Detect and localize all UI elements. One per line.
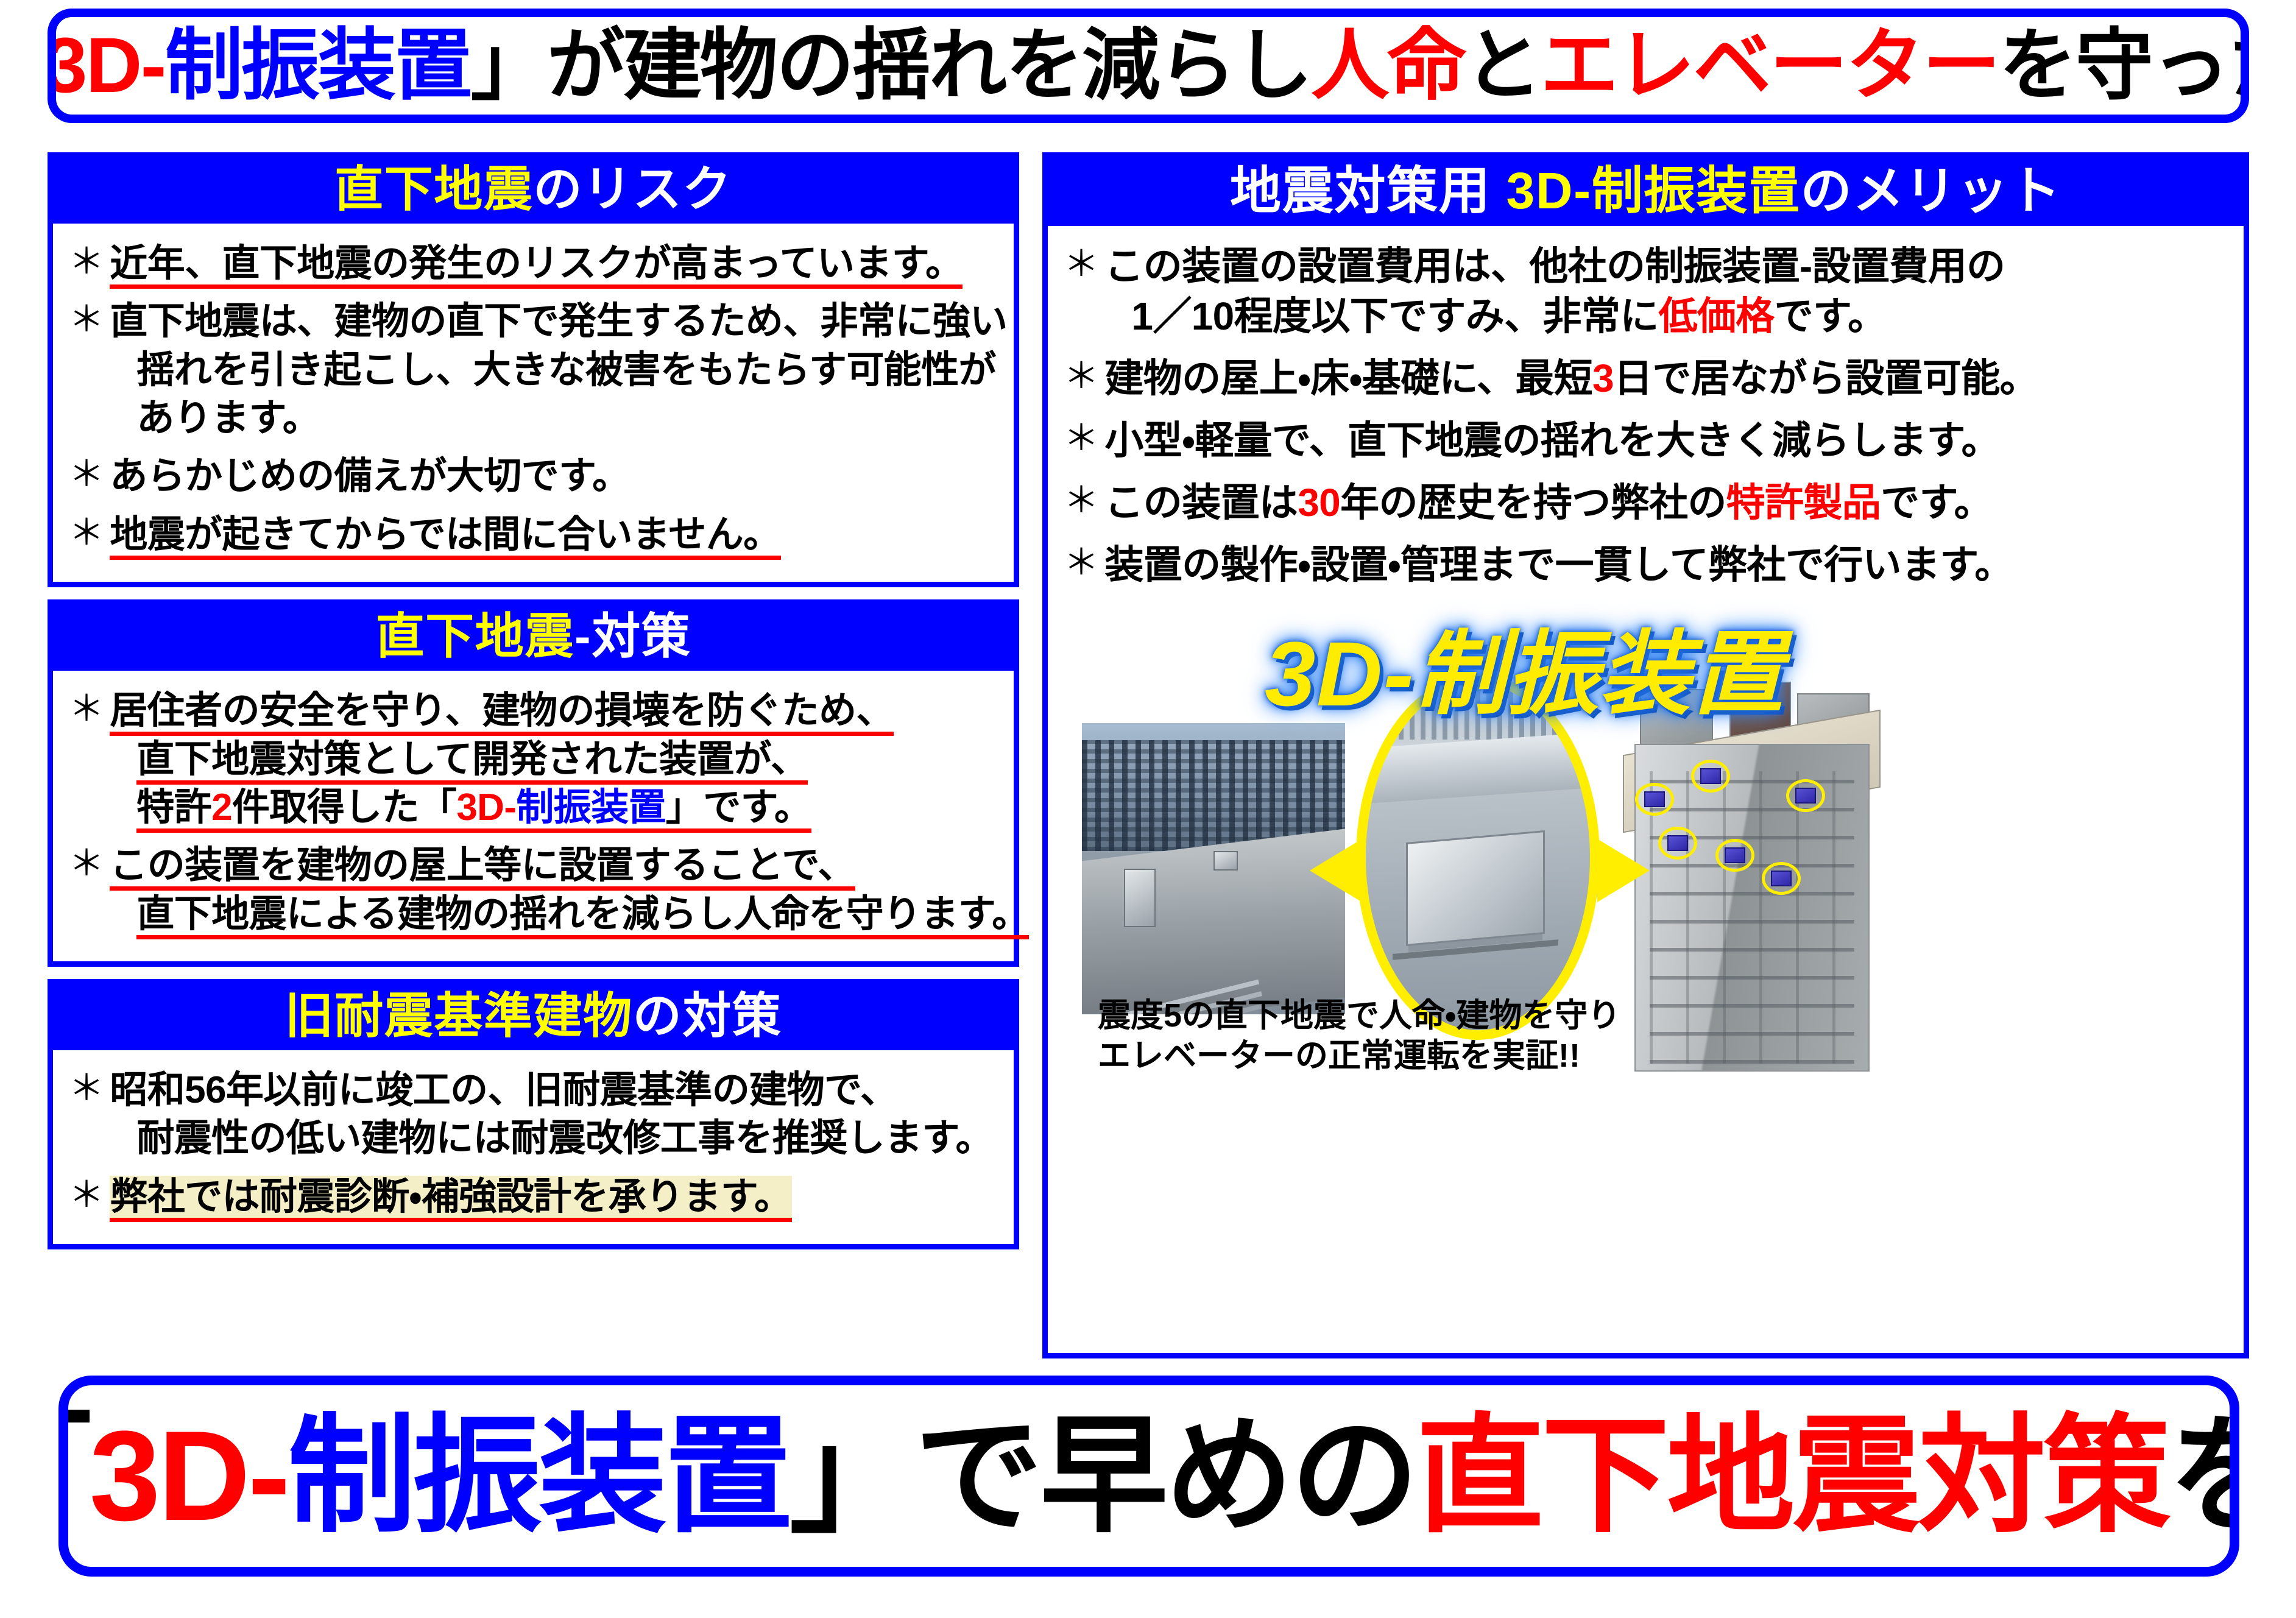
caption-line-0: 震度5の直下地震で人命・建物を守り	[1098, 996, 1620, 1036]
left-column: 直下地震のリスク＊近年、直下地震の発生のリスクが高まっています。＊直下地震は、建…	[48, 152, 1019, 1358]
panel-0-bullet: ＊あらかじめの備えが大切です。	[69, 452, 1003, 500]
bullet-marker-icon: ＊	[69, 1173, 104, 1218]
emph-patent: 特許製品	[1726, 481, 1881, 525]
arrow-left-icon	[1310, 839, 1362, 902]
panel-1-line-text: 直下地震による建物の揺れを減らし人命を守ります。	[136, 893, 1029, 939]
merits-bullet-lines: この装置の設置費用は、他社の制振装置-設置費用の1／10程度以下ですみ、非常に低…	[1104, 242, 2233, 342]
panel-merits-body: ＊この装置の設置費用は、他社の制振装置-設置費用の1／10程度以下ですみ、非常に…	[1048, 226, 2244, 1353]
panel-2-bullet: ＊昭和56年以前に竣工の、旧耐震基準の建物で、耐震性の低い建物には耐震改修工事を…	[69, 1066, 1003, 1163]
merits-line-text: この装置は30年の歴史を持つ弊社の特許製品です。	[1104, 481, 1992, 525]
panel-1-line-text: 直下地震対策として開発された装置が、	[136, 738, 808, 785]
header-text-seg-5: と	[1464, 22, 1540, 109]
roof-parapet	[1356, 729, 1600, 805]
panel-2-body: ＊昭和56年以前に竣工の、旧耐震基準の建物で、耐震性の低い建物には耐震改修工事を…	[53, 1050, 1014, 1244]
merits-line-text: 1／10程度以下ですみ、非常に低価格です。	[1131, 294, 1886, 338]
panel-0-line: 地震が起きてからでは間に合いません。	[110, 510, 1003, 559]
merits-bullet: ＊建物の屋上・床・基礎に、最短3日で居ながら設置可能。	[1064, 354, 2233, 404]
panel-0-bullet: ＊近年、直下地震の発生のリスクが高まっています。	[69, 239, 1003, 288]
right-column: 地震対策用 3D-制振装置のメリット ＊この装置の設置費用は、他社の制振装置-設…	[1042, 152, 2249, 1358]
header-text-seg-7: を守った!	[1999, 22, 2249, 109]
bullet-marker-icon: ＊	[69, 510, 104, 556]
panel-0-line-text: あります。	[136, 397, 320, 439]
merit-bullet-list: ＊この装置の設置費用は、他社の制振装置-設置費用の1／10程度以下ですみ、非常に…	[1064, 242, 2233, 590]
emph-number: 2	[211, 786, 232, 828]
bullet-marker-icon: ＊	[69, 841, 104, 886]
panel-1-title-part-1: -対策	[574, 609, 691, 663]
footer-text-seg-2: 制振装置	[288, 1404, 789, 1547]
header-text-seg-3: 」が建物の揺れを減らし	[471, 22, 1312, 109]
damper-marker	[1700, 768, 1721, 784]
panel-0-line: 近年、直下地震の発生のリスクが高まっています。	[110, 239, 1003, 288]
panel-0-body: ＊近年、直下地震の発生のリスクが高まっています。＊直下地震は、建物の直下で発生す…	[53, 224, 1014, 582]
footer-text-seg-5: を!	[2169, 1404, 2239, 1547]
panel-2-line: 弊社では耐震診断・補強設計を承ります。	[110, 1173, 1003, 1221]
panel-0-bullet: ＊直下地震は、建物の直下で発生するため、非常に強い揺れを引き起こし、大きな被害を…	[69, 297, 1003, 442]
panel-1-body: ＊居住者の安全を守り、建物の損壊を防ぐため、直下地震対策として開発された装置が、…	[53, 671, 1014, 961]
panel-0-line-text: 直下地震は、建物の直下で発生するため、非常に強い	[110, 300, 1007, 342]
arrow-right-icon	[1597, 839, 1650, 902]
merits-line: 装置の製作・設置・管理まで一貫して弊社で行います。	[1104, 540, 2233, 590]
panel-2-line: 耐震性の低い建物には耐震改修工事を推奨します。	[110, 1114, 1003, 1162]
panel-1-line: 直下地震対策として開発された装置が、	[110, 735, 1003, 783]
damper-marker	[1771, 871, 1792, 886]
damper-marker	[1795, 788, 1816, 804]
merits-bullet-lines: 建物の屋上・床・基礎に、最短3日で居ながら設置可能。	[1104, 354, 2233, 404]
bullet-marker-icon: ＊	[69, 452, 104, 497]
artwork-caption: 震度5の直下地震で人命・建物を守りエレベーターの正常運転を実証!!	[1098, 996, 1620, 1076]
panel-0-line: 揺れを引き起こし、大きな被害をもたらす可能性が	[110, 346, 1003, 394]
emph-days: 3	[1592, 356, 1614, 400]
panel-0-bullet: ＊地震が起きてからでは間に合いません。	[69, 510, 1003, 559]
merits-line: 1／10程度以下ですみ、非常に低価格です。	[1104, 292, 2233, 342]
caption-line-1: エレベーターの正常運転を実証!!	[1098, 1036, 1620, 1076]
panel-0-line-text: 地震が起きてからでは間に合いません。	[110, 514, 780, 560]
panel-merits: 地震対策用 3D-制振装置のメリット ＊この装置の設置費用は、他社の制振装置-設…	[1042, 152, 2249, 1358]
product-logo-wordmark: 3D-制振装置	[1265, 600, 1784, 732]
footer-text-seg-3: 」で早めの	[789, 1404, 1416, 1547]
emph-3d: 3D-	[456, 786, 516, 828]
panel-1-title: 直下地震-対策	[53, 605, 1014, 671]
merits-title-part-1: 3D-制振装置	[1506, 162, 1800, 219]
panel-0-line-text: 揺れを引き起こし、大きな被害をもたらす可能性が	[136, 349, 996, 391]
merits-bullet: ＊この装置は30年の歴史を持つ弊社の特許製品です。	[1064, 478, 2233, 528]
bullet-marker-icon: ＊	[69, 297, 104, 342]
panel-2-bullet: ＊弊社では耐震診断・補強設計を承ります。	[69, 1173, 1003, 1221]
panel-2-title: 旧耐震基準建物の対策	[53, 984, 1014, 1050]
damper-marker	[1667, 835, 1688, 851]
panel-1-bullet: ＊居住者の安全を守り、建物の損壊を防ぐため、直下地震対策として開発された装置が、…	[69, 687, 1003, 832]
rooftop-installation-photo	[1082, 723, 1345, 1014]
footer-banner: 「3D-制振装置」で早めの直下地震対策を!	[58, 1376, 2239, 1577]
panel-1-bullet-lines: この装置を建物の屋上等に設置することで、直下地震による建物の揺れを減らし人命を守…	[110, 841, 1003, 938]
panel-0-line: 直下地震は、建物の直下で発生するため、非常に強い	[110, 297, 1003, 345]
panel-1: 直下地震-対策＊居住者の安全を守り、建物の損壊を防ぐため、直下地震対策として開発…	[48, 599, 1019, 967]
emph-product: 制振装置	[516, 786, 666, 828]
panel-1-line-text: この装置を建物の屋上等に設置することで、	[110, 844, 855, 891]
panel-2-bullet-lines: 弊社では耐震診断・補強設計を承ります。	[110, 1173, 1003, 1221]
merits-title-part-2: のメリット	[1801, 162, 2061, 219]
panel-2-line-text: 弊社では耐震診断・補強設計を承ります。	[110, 1176, 791, 1222]
emph-low-price: 低価格	[1659, 294, 1775, 338]
panel-1-line: 直下地震による建物の揺れを減らし人命を守ります。	[110, 890, 1003, 938]
header-text-seg-2: 制振装置	[165, 22, 471, 109]
panel-0-bullet-lines: あらかじめの備えが大切です。	[110, 452, 1003, 500]
merits-line: この装置の設置費用は、他社の制振装置-設置費用の	[1104, 242, 2233, 292]
damper-device-body	[1406, 830, 1545, 946]
artwork-montage: 3D-制振装置	[1064, 602, 2233, 1065]
damper-marker	[1644, 791, 1665, 807]
bullet-marker-icon: ＊	[1064, 416, 1098, 461]
panel-0-bullet-lines: 直下地震は、建物の直下で発生するため、非常に強い揺れを引き起こし、大きな被害をも…	[110, 297, 1003, 442]
header-headline: 「3D-制振装置」が建物の揺れを減らし人命とエレベーターを守った!	[48, 27, 2249, 105]
merits-line-text: この装置の設置費用は、他社の制振装置-設置費用の	[1104, 244, 2005, 288]
panel-1-line: 居住者の安全を守り、建物の損壊を防ぐため、	[110, 687, 1003, 735]
merits-line-text: 装置の製作・設置・管理まで一貫して弊社で行います。	[1104, 543, 2013, 587]
panel-0-title-part-1: のリスク	[534, 162, 732, 216]
merits-bullet: ＊装置の製作・設置・管理まで一貫して弊社で行います。	[1064, 540, 2233, 590]
emph-years: 30	[1298, 481, 1340, 525]
panel-1-line: 特許2件取得した「3D-制振装置」です。	[110, 783, 1003, 832]
panel-2-title-part-1: の対策	[633, 989, 782, 1043]
3d-building-render	[1612, 682, 1892, 1072]
header-text-seg-6: エレベーター	[1541, 22, 1999, 109]
merits-title-part-0: 地震対策用	[1230, 162, 1506, 219]
footer-text-seg-4: 直下地震対策	[1416, 1404, 2169, 1547]
panel-1-line-text: 居住者の安全を守り、建物の損壊を防ぐため、	[110, 690, 894, 736]
merits-line: 小型・軽量で、直下地震の揺れを大きく減らします。	[1104, 416, 2233, 466]
panel-0-bullet-lines: 近年、直下地震の発生のリスクが高まっています。	[110, 239, 1003, 288]
bullet-marker-icon: ＊	[1064, 354, 1098, 399]
footer-headline: 「3D-制振装置」で早めの直下地震対策を!	[58, 1412, 2239, 1540]
panel-0-title: 直下地震のリスク	[53, 158, 1014, 224]
merits-bullet: ＊この装置の設置費用は、他社の制振装置-設置費用の1／10程度以下ですみ、非常に…	[1064, 242, 2233, 342]
panel-2-line: 昭和56年以前に竣工の、旧耐震基準の建物で、	[110, 1066, 1003, 1114]
merits-line: この装置は30年の歴史を持つ弊社の特許製品です。	[1104, 478, 2233, 528]
merits-line-text: 小型・軽量で、直下地震の揺れを大きく減らします。	[1104, 419, 1999, 462]
bullet-marker-icon: ＊	[1064, 242, 1098, 287]
panel-0: 直下地震のリスク＊近年、直下地震の発生のリスクが高まっています。＊直下地震は、建…	[48, 152, 1019, 587]
header-text-seg-1: 3D-	[48, 22, 165, 109]
panel-0-line-text: あらかじめの備えが大切です。	[110, 455, 629, 497]
panel-1-bullet-lines: 居住者の安全を守り、建物の損壊を防ぐため、直下地震対策として開発された装置が、特…	[110, 687, 1003, 832]
header-text-seg-4: 人命	[1311, 22, 1464, 109]
panel-2-title-part-0: 旧耐震基準建物	[284, 989, 632, 1043]
merits-bullet-lines: この装置は30年の歴史を持つ弊社の特許製品です。	[1104, 478, 2233, 528]
panel-1-title-part-0: 直下地震	[376, 609, 574, 663]
bullet-marker-icon: ＊	[1064, 478, 1098, 523]
panel-1-line: この装置を建物の屋上等に設置することで、	[110, 841, 1003, 889]
merits-line: 建物の屋上・床・基礎に、最短3日で居ながら設置可能。	[1104, 354, 2233, 404]
panel-1-bullet: ＊この装置を建物の屋上等に設置することで、直下地震による建物の揺れを減らし人命を…	[69, 841, 1003, 938]
damper-marker	[1725, 847, 1745, 863]
rooftop-equipment-2	[1213, 851, 1238, 871]
panel-0-line: あらかじめの備えが大切です。	[110, 452, 1003, 500]
footer-text-seg-0: 「	[58, 1404, 90, 1547]
panel-2-line-text: 耐震性の低い建物には耐震改修工事を推奨します。	[136, 1117, 993, 1159]
panel-1-line-text: 特許2件取得した「3D-制振装置」です。	[136, 786, 811, 833]
merits-bullet: ＊小型・軽量で、直下地震の揺れを大きく減らします。	[1064, 416, 2233, 466]
panel-0-bullet-lines: 地震が起きてからでは間に合いません。	[110, 510, 1003, 559]
header-banner: 「3D-制振装置」が建物の揺れを減らし人命とエレベーターを守った!	[48, 9, 2249, 123]
panel-0-line-text: 近年、直下地震の発生のリスクが高まっています。	[110, 242, 963, 289]
panel-merits-title: 地震対策用 3D-制振装置のメリット	[1048, 158, 2244, 226]
bullet-marker-icon: ＊	[69, 1066, 104, 1111]
panel-2: 旧耐震基準建物の対策＊昭和56年以前に竣工の、旧耐震基準の建物で、耐震性の低い建…	[48, 979, 1019, 1249]
panel-0-line: あります。	[110, 394, 1003, 442]
bullet-marker-icon: ＊	[1064, 540, 1098, 585]
content-columns: 直下地震のリスク＊近年、直下地震の発生のリスクが高まっています。＊直下地震は、建…	[48, 152, 2249, 1358]
merits-bullet-lines: 装置の製作・設置・管理まで一貫して弊社で行います。	[1104, 540, 2233, 590]
merits-line-text: 建物の屋上・床・基礎に、最短3日で居ながら設置可能。	[1104, 356, 2038, 400]
panel-2-bullet-lines: 昭和56年以前に竣工の、旧耐震基準の建物で、耐震性の低い建物には耐震改修工事を推…	[110, 1066, 1003, 1163]
bullet-marker-icon: ＊	[69, 687, 104, 732]
footer-text-seg-1: 3D-	[90, 1404, 288, 1547]
panel-0-title-part-0: 直下地震	[334, 162, 533, 216]
rooftop-equipment-1	[1124, 869, 1156, 927]
bullet-marker-icon: ＊	[69, 239, 104, 284]
panel-2-line-text: 昭和56年以前に竣工の、旧耐震基準の建物で、	[110, 1069, 897, 1111]
merits-bullet-lines: 小型・軽量で、直下地震の揺れを大きく減らします。	[1104, 416, 2233, 466]
